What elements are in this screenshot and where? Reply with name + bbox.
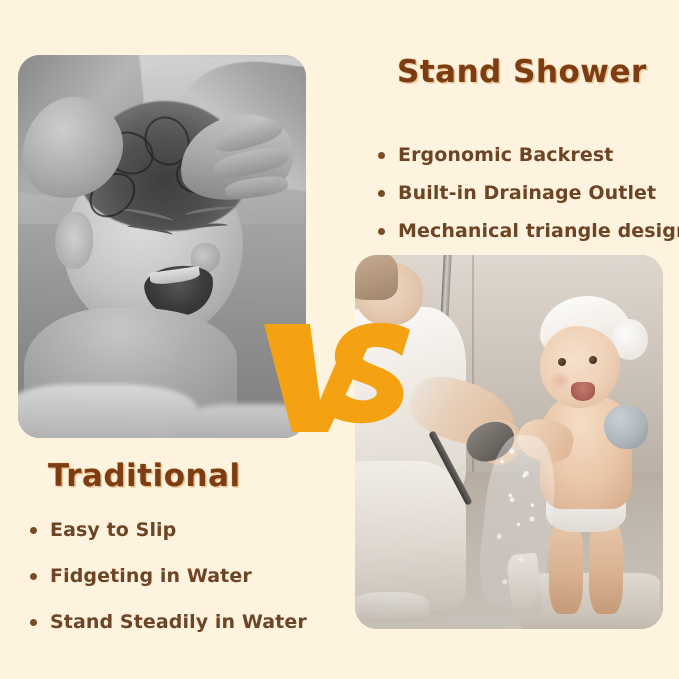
- traditional-heading: Traditional: [48, 458, 241, 494]
- stand-shower-feature-list: Ergonomic Backrest Built-in Drainage Out…: [378, 136, 679, 250]
- list-item: Fidgeting in Water: [30, 553, 307, 599]
- traditional-photo: [18, 55, 306, 438]
- list-item: Easy to Slip: [30, 507, 307, 553]
- photo-vignette: [18, 55, 306, 438]
- comparison-poster: Stand Shower Ergonomic Backrest Built-in…: [0, 0, 679, 679]
- stand-shower-heading: Stand Shower: [397, 54, 647, 90]
- feature-text: Mechanical triangle design: [378, 212, 679, 250]
- drawback-text: Easy to Slip: [30, 507, 176, 553]
- photo-vignette: [355, 255, 663, 629]
- list-item: Mechanical triangle design: [378, 212, 679, 250]
- traditional-drawback-list: Easy to Slip Fidgeting in Water Stand St…: [30, 507, 307, 645]
- drawback-text: Fidgeting in Water: [30, 553, 252, 599]
- list-item: Ergonomic Backrest: [378, 136, 679, 174]
- feature-text: Ergonomic Backrest: [378, 136, 613, 174]
- stand-shower-photo-scene: [355, 255, 663, 629]
- feature-text: Built-in Drainage Outlet: [378, 174, 656, 212]
- list-item: Built-in Drainage Outlet: [378, 174, 679, 212]
- stand-shower-photo: [355, 255, 663, 629]
- list-item: Stand Steadily in Water: [30, 599, 307, 645]
- drawback-text: Stand Steadily in Water: [30, 599, 307, 645]
- traditional-photo-scene: [18, 55, 306, 438]
